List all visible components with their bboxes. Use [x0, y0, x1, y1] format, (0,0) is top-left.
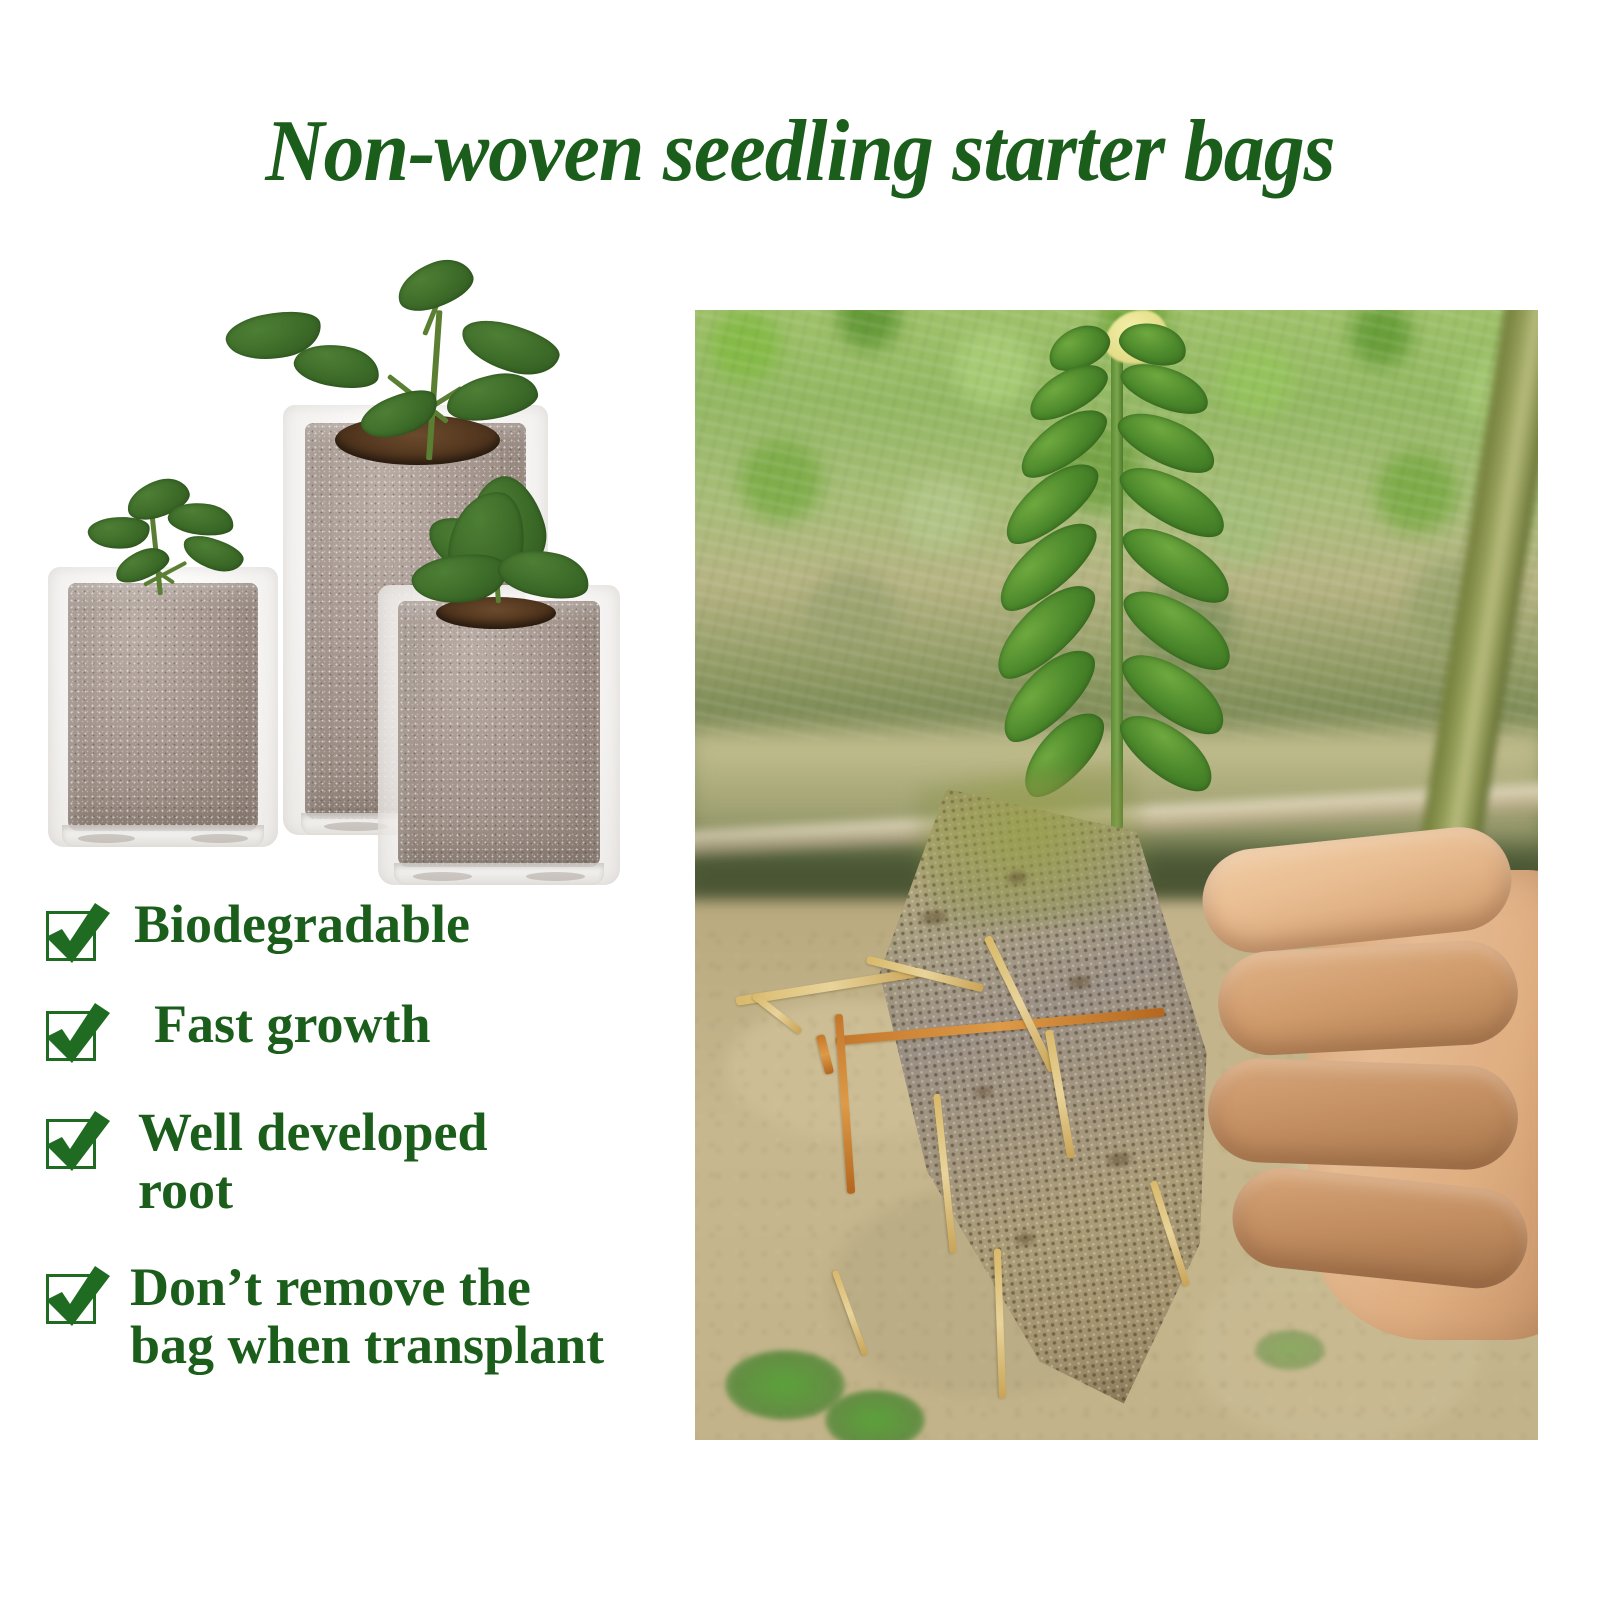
held-nursery-bag	[848, 764, 1242, 1425]
nursery-bag-left	[48, 567, 278, 847]
product-marketing-image: Non-woven seedling starter bags	[0, 0, 1600, 1600]
feature-label: Fast growth	[154, 995, 431, 1053]
bag-bottom-gusset	[62, 825, 264, 847]
feature-label: Biodegradable	[134, 895, 470, 953]
checkbox-checked-icon[interactable]	[40, 901, 98, 959]
checkbox-checked-icon[interactable]	[40, 1264, 98, 1322]
nursery-bag-right	[378, 585, 620, 885]
feature-item-dont-remove-bag: Don’t remove the bag when transplant	[40, 1258, 680, 1375]
hand	[1188, 830, 1538, 1430]
feature-item-fast-growth: Fast growth	[40, 995, 680, 1059]
ring-finger	[1206, 1057, 1519, 1172]
hand-holding-seedling-bag-photo	[695, 310, 1538, 1440]
bag-bottom-gusset	[394, 863, 604, 885]
checkbox-checked-icon[interactable]	[40, 1001, 98, 1059]
feature-item-biodegradable: Biodegradable	[40, 895, 680, 959]
checkbox-checked-icon[interactable]	[40, 1109, 98, 1167]
three-nursery-bags-photo	[30, 255, 670, 885]
feature-list: Biodegradable Fast growth Well developed…	[40, 895, 680, 1410]
bag-soil-body	[68, 583, 258, 831]
middle-finger	[1215, 938, 1520, 1058]
feature-item-well-developed-root: Well developed root	[40, 1103, 680, 1220]
feature-label: Don’t remove the bag when transplant	[130, 1258, 604, 1375]
feature-label: Well developed root	[138, 1103, 488, 1220]
bag-soil-body	[398, 601, 600, 867]
held-bag-moss	[913, 763, 1152, 936]
page-title: Non-woven seedling starter bags	[56, 108, 1544, 196]
